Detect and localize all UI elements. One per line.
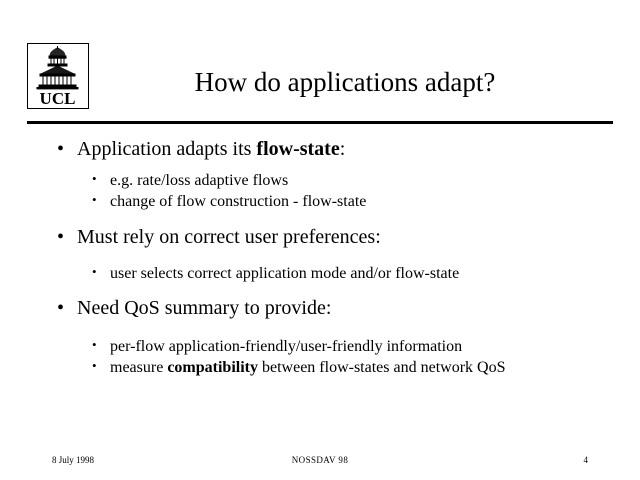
svg-text:UCL: UCL bbox=[40, 89, 76, 107]
bullet-level2: • user selects correct application mode … bbox=[40, 264, 616, 285]
bullet-level1: • Need QoS summary to provide: bbox=[40, 296, 616, 321]
spacer bbox=[40, 252, 616, 264]
bullet-level1: • Application adapts its flow-state: bbox=[40, 137, 616, 162]
ucl-crest-icon: UCL bbox=[28, 44, 87, 107]
bullet-glyph: • bbox=[57, 225, 64, 250]
spacer bbox=[40, 164, 616, 171]
slide-title: How do applications adapt? bbox=[95, 68, 595, 98]
spacer bbox=[40, 284, 616, 296]
bullet-level2: • per-flow application-friendly/user-fri… bbox=[40, 337, 616, 358]
bullet-glyph: • bbox=[92, 264, 97, 281]
bullet-text: change of flow construction - flow-state bbox=[110, 193, 366, 210]
slide: UCL How do applications adapt? • Applica… bbox=[0, 0, 640, 480]
bullet-text: e.g. rate/loss adaptive flows bbox=[110, 172, 288, 189]
bullet-level2: • e.g. rate/loss adaptive flows bbox=[40, 171, 616, 192]
bullet-text: per-flow application-friendly/user-frien… bbox=[110, 338, 462, 355]
spacer bbox=[40, 213, 616, 225]
slide-body: • Application adapts its flow-state: • e… bbox=[40, 137, 616, 379]
bullet-text: Must rely on correct user preferences: bbox=[77, 226, 381, 248]
bullet-text: Need QoS summary to provide: bbox=[77, 297, 331, 319]
bullet-glyph: • bbox=[92, 192, 97, 209]
ucl-logo: UCL bbox=[27, 43, 89, 109]
bullet-text: measure compatibility between flow-state… bbox=[110, 359, 505, 376]
bullet-level2: • change of flow construction - flow-sta… bbox=[40, 192, 616, 213]
bullet-glyph: • bbox=[92, 171, 97, 188]
title-divider bbox=[27, 121, 613, 124]
bullet-text: user selects correct application mode an… bbox=[110, 265, 459, 282]
bullet-glyph: • bbox=[57, 137, 64, 162]
slide-footer: 8 July 1998 NOSSDAV 98 4 bbox=[0, 455, 640, 471]
bullet-glyph: • bbox=[92, 358, 97, 375]
spacer bbox=[40, 323, 616, 337]
bullet-glyph: • bbox=[57, 296, 64, 321]
bullet-glyph: • bbox=[92, 337, 97, 354]
bullet-text: Application adapts its flow-state: bbox=[77, 138, 345, 160]
bullet-level1: • Must rely on correct user preferences: bbox=[40, 225, 616, 250]
footer-page-number: 4 bbox=[584, 455, 589, 465]
footer-conference: NOSSDAV 98 bbox=[0, 455, 640, 465]
bullet-level2: • measure compatibility between flow-sta… bbox=[40, 358, 616, 379]
